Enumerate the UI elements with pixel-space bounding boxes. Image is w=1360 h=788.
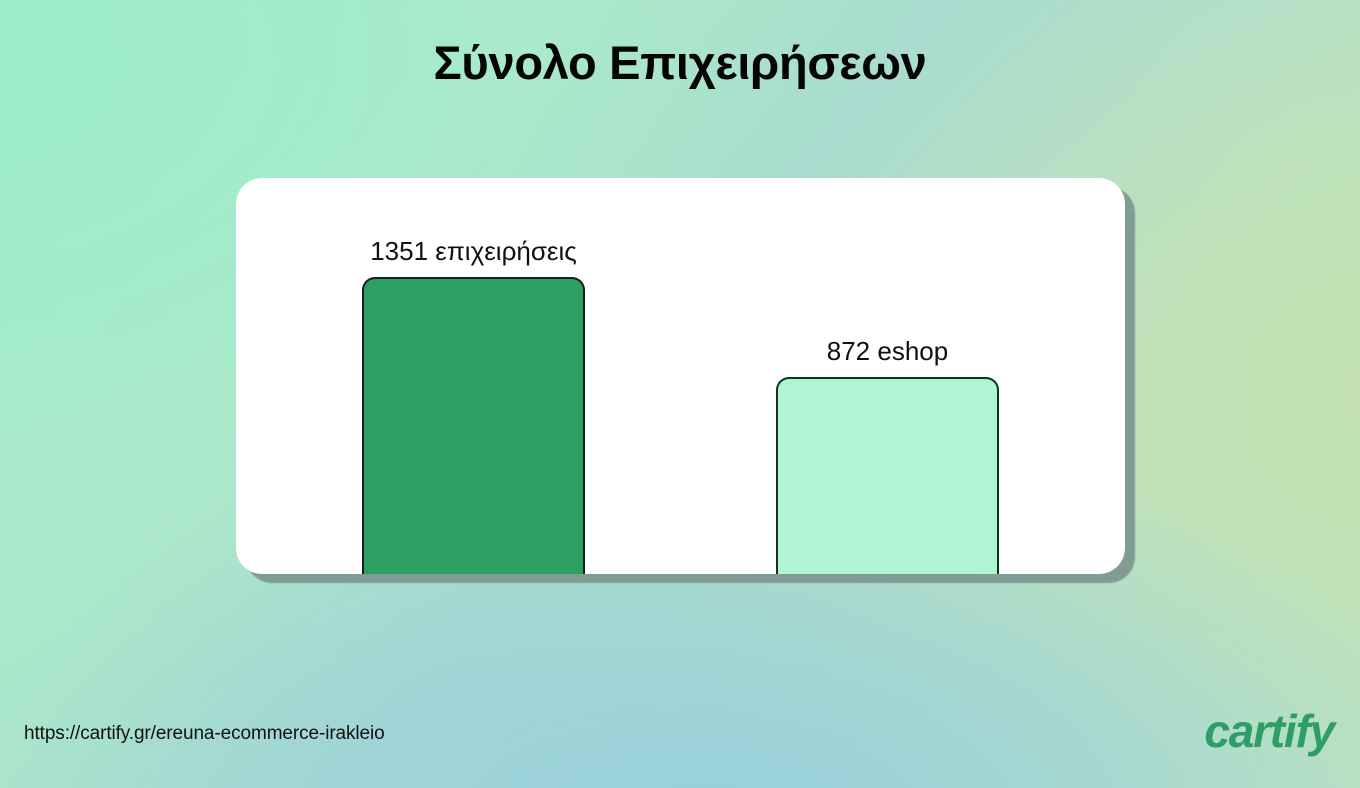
cartify-logo: cartify xyxy=(1204,708,1334,754)
infographic-page: { "title": "Σύνολο Επιχειρήσεων", "foote… xyxy=(0,0,1360,788)
bar-value-label: 872 eshop xyxy=(776,338,999,364)
bar-epixeiriseis xyxy=(362,277,585,574)
card-surface: 1351 επιχειρήσεις 872 eshop xyxy=(236,178,1125,574)
page-title: Σύνολο Επιχειρήσεων xyxy=(0,36,1360,90)
source-url[interactable]: https://cartify.gr/ereuna-ecommerce-irak… xyxy=(24,723,385,745)
bar-eshop xyxy=(776,377,999,574)
bar-value-label: 1351 επιχειρήσεις xyxy=(362,238,585,264)
bar-chart-plot-area: 1351 επιχειρήσεις 872 eshop xyxy=(236,178,1125,574)
chart-card: 1351 επιχειρήσεις 872 eshop xyxy=(236,178,1125,574)
